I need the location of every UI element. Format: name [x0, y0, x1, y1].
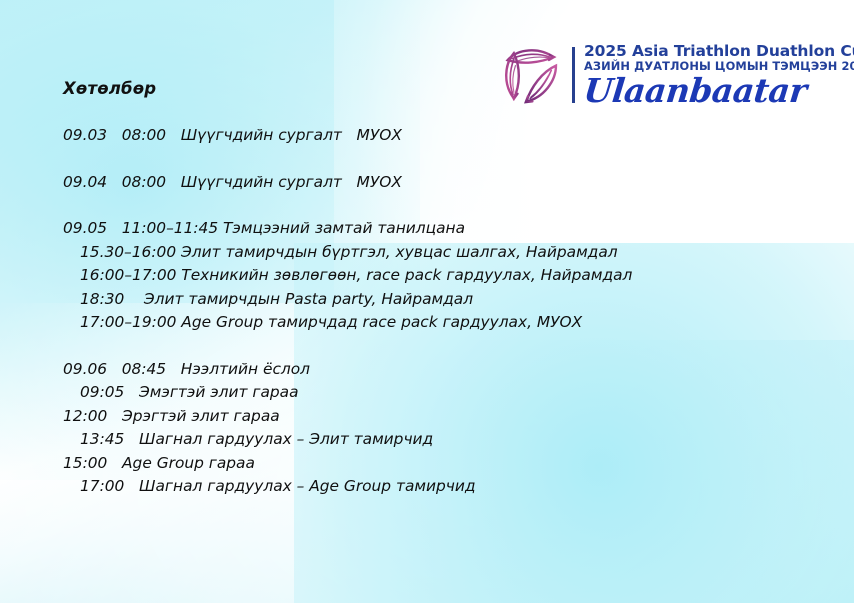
schedule-list: 09.03 08:00 Шүүгчдийн сургалт МУОХ09.04 …	[0, 124, 854, 499]
schedule-group-day-09-04: 09.04 08:00 Шүүгчдийн сургалт МУОХ	[0, 171, 854, 195]
three-leaf-emblem-icon	[492, 36, 570, 114]
schedule-line: 16:00–17:00 Техникийн зөвлөгөөн, race pa…	[0, 264, 854, 288]
schedule-line: 17:00–19:00 Age Group тамирчдад race pac…	[0, 311, 854, 335]
schedule-group-gap	[0, 194, 854, 217]
schedule-line: 15.30–16:00 Элит тамирчдын бүртгэл, хувц…	[0, 241, 854, 265]
page-title: Хөтөлбөр	[63, 79, 156, 98]
schedule-line: 09.05 11:00–11:45 Тэмцээний замтай танил…	[0, 217, 854, 241]
schedule-line: 09:05 Эмэгтэй элит гараа	[0, 381, 854, 405]
event-logo: 2025 Asia Triathlon Duathlon Cup АЗИЙН Д…	[492, 34, 822, 116]
schedule-line: 13:45 Шагнал гардуулах – Элит тамирчид	[0, 428, 854, 452]
schedule-line: 15:00 Age Group гараа	[0, 452, 854, 476]
schedule-line: 09.04 08:00 Шүүгчдийн сургалт МУОХ	[0, 171, 854, 195]
slide-canvas: 2025 Asia Triathlon Duathlon Cup АЗИЙН Д…	[0, 0, 854, 603]
schedule-group-day-09-06: 09.06 08:45 Нээлтийн ёслол09:05 Эмэгтэй …	[0, 358, 854, 499]
schedule-group-day-09-05: 09.05 11:00–11:45 Тэмцээний замтай танил…	[0, 217, 854, 335]
schedule-line: 12:00 Эрэгтэй элит гараа	[0, 405, 854, 429]
schedule-group-gap	[0, 335, 854, 358]
logo-text-block: 2025 Asia Triathlon Duathlon Cup АЗИЙН Д…	[584, 43, 854, 107]
schedule-line: 18:30 Элит тамирчдын Pasta party, Найрам…	[0, 288, 854, 312]
schedule-group-day-09-03: 09.03 08:00 Шүүгчдийн сургалт МУОХ	[0, 124, 854, 148]
logo-title-en: 2025 Asia Triathlon Duathlon Cup	[584, 43, 854, 59]
schedule-line: 09.06 08:45 Нээлтийн ёслол	[0, 358, 854, 382]
logo-divider	[572, 47, 575, 103]
logo-wordmark-ulaanbaatar: Ulaanbaatar	[582, 74, 854, 107]
schedule-group-gap	[0, 148, 854, 171]
schedule-line: 17:00 Шагнал гардуулах – Age Group тамир…	[0, 475, 854, 499]
schedule-line: 09.03 08:00 Шүүгчдийн сургалт МУОХ	[0, 124, 854, 148]
